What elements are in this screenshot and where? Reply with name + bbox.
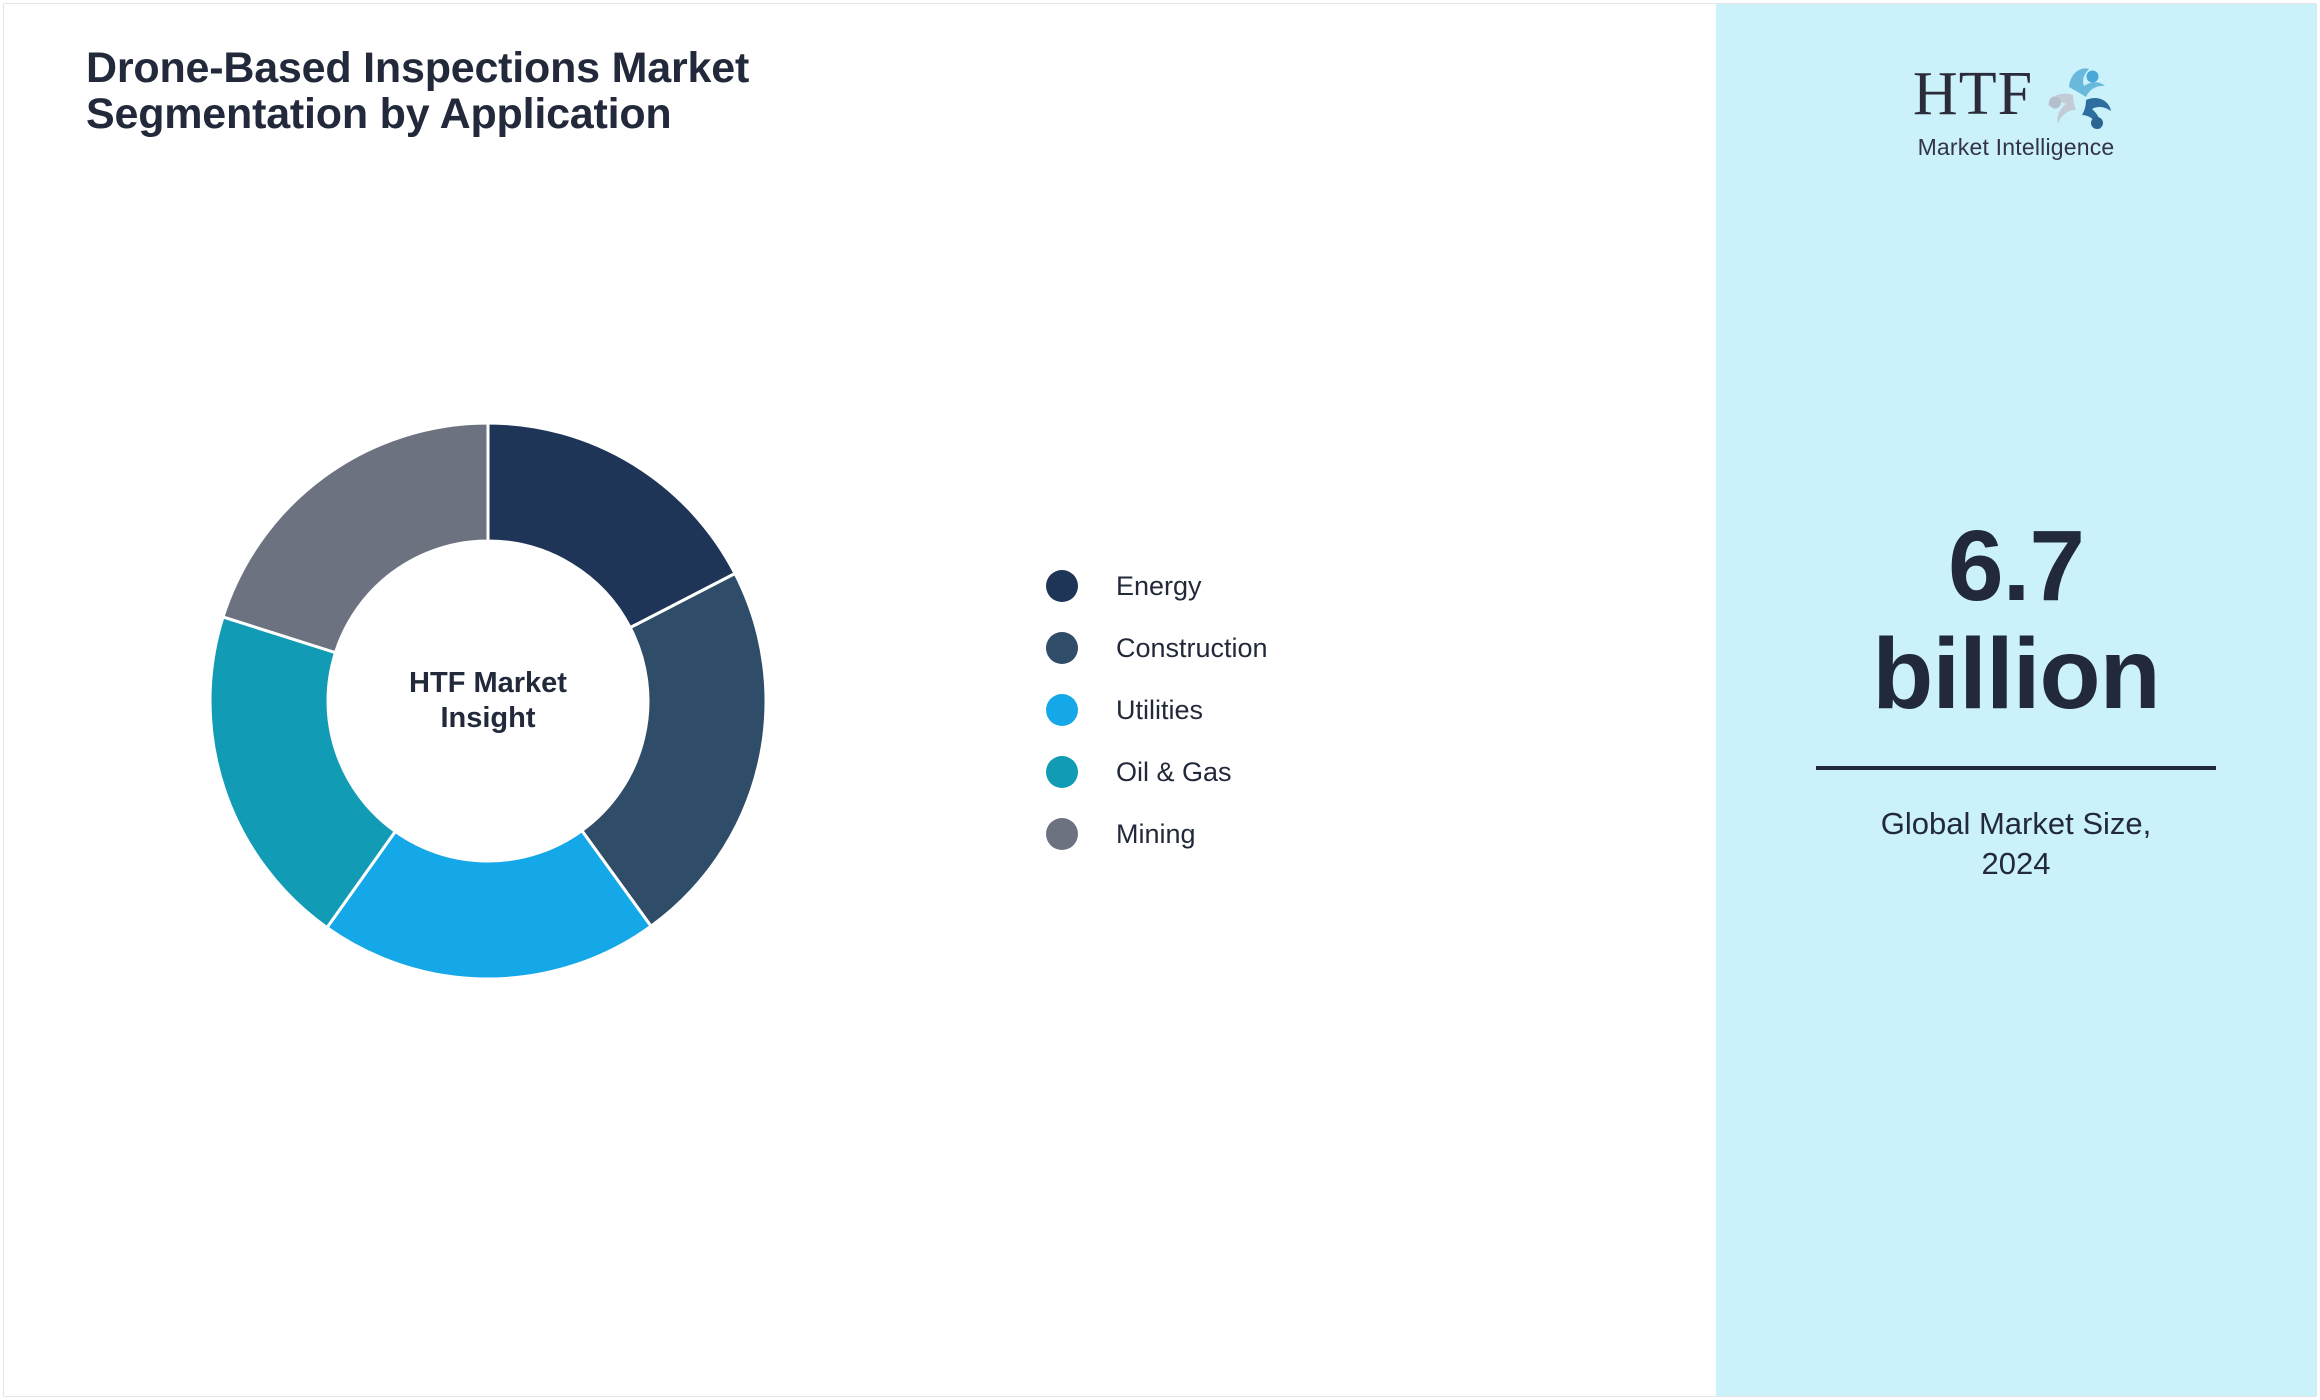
stat-caption: Global Market Size, 2024 <box>1776 804 2256 883</box>
legend-item[interactable]: Energy <box>1046 555 1466 617</box>
brand-wordmark: HTF <box>1913 65 2033 124</box>
legend-item-label: Construction <box>1116 635 1268 662</box>
infographic-card: Drone-Based Inspections Market Segmentat… <box>3 3 2317 1397</box>
legend-item[interactable]: Construction <box>1046 617 1466 679</box>
legend-item[interactable]: Utilities <box>1046 679 1466 741</box>
legend-swatch-icon <box>1046 818 1078 850</box>
stat-divider <box>1816 766 2216 770</box>
legend-item-label: Mining <box>1116 821 1196 848</box>
brand-tagline: Market Intelligence <box>1918 134 2115 161</box>
chart-panel: Drone-Based Inspections Market Segmentat… <box>4 4 1716 1396</box>
legend-item[interactable]: Oil & Gas <box>1046 741 1466 803</box>
legend-item-label: Utilities <box>1116 697 1203 724</box>
screenshot-root: Drone-Based Inspections Market Segmentat… <box>0 0 2320 1400</box>
stat-value: 6.7 billion <box>1776 512 2256 728</box>
stat-block: 6.7 billion Global Market Size, 2024 <box>1776 512 2256 883</box>
stat-sidebar: HTF Market Intelligence <box>1716 4 2316 1396</box>
legend-swatch-icon <box>1046 694 1078 726</box>
brand-logo: HTF Market Intelligence <box>1716 50 2316 168</box>
legend-swatch-icon <box>1046 632 1078 664</box>
donut-chart: HTF Market Insight <box>168 381 808 1021</box>
three-people-swirl-icon <box>2039 57 2119 131</box>
donut-chart-svg <box>168 381 808 1021</box>
legend-swatch-icon <box>1046 570 1078 602</box>
brand-logo-row: HTF <box>1913 57 2119 131</box>
legend-swatch-icon <box>1046 756 1078 788</box>
legend-item-label: Energy <box>1116 573 1202 600</box>
legend-item[interactable]: Mining <box>1046 803 1466 865</box>
donut-slice-group <box>210 423 766 979</box>
legend-item-label: Oil & Gas <box>1116 759 1232 786</box>
page-title: Drone-Based Inspections Market Segmentat… <box>86 46 1206 137</box>
chart-legend: EnergyConstructionUtilitiesOil & GasMini… <box>1046 555 1466 865</box>
donut-slice-mining[interactable] <box>223 423 488 653</box>
